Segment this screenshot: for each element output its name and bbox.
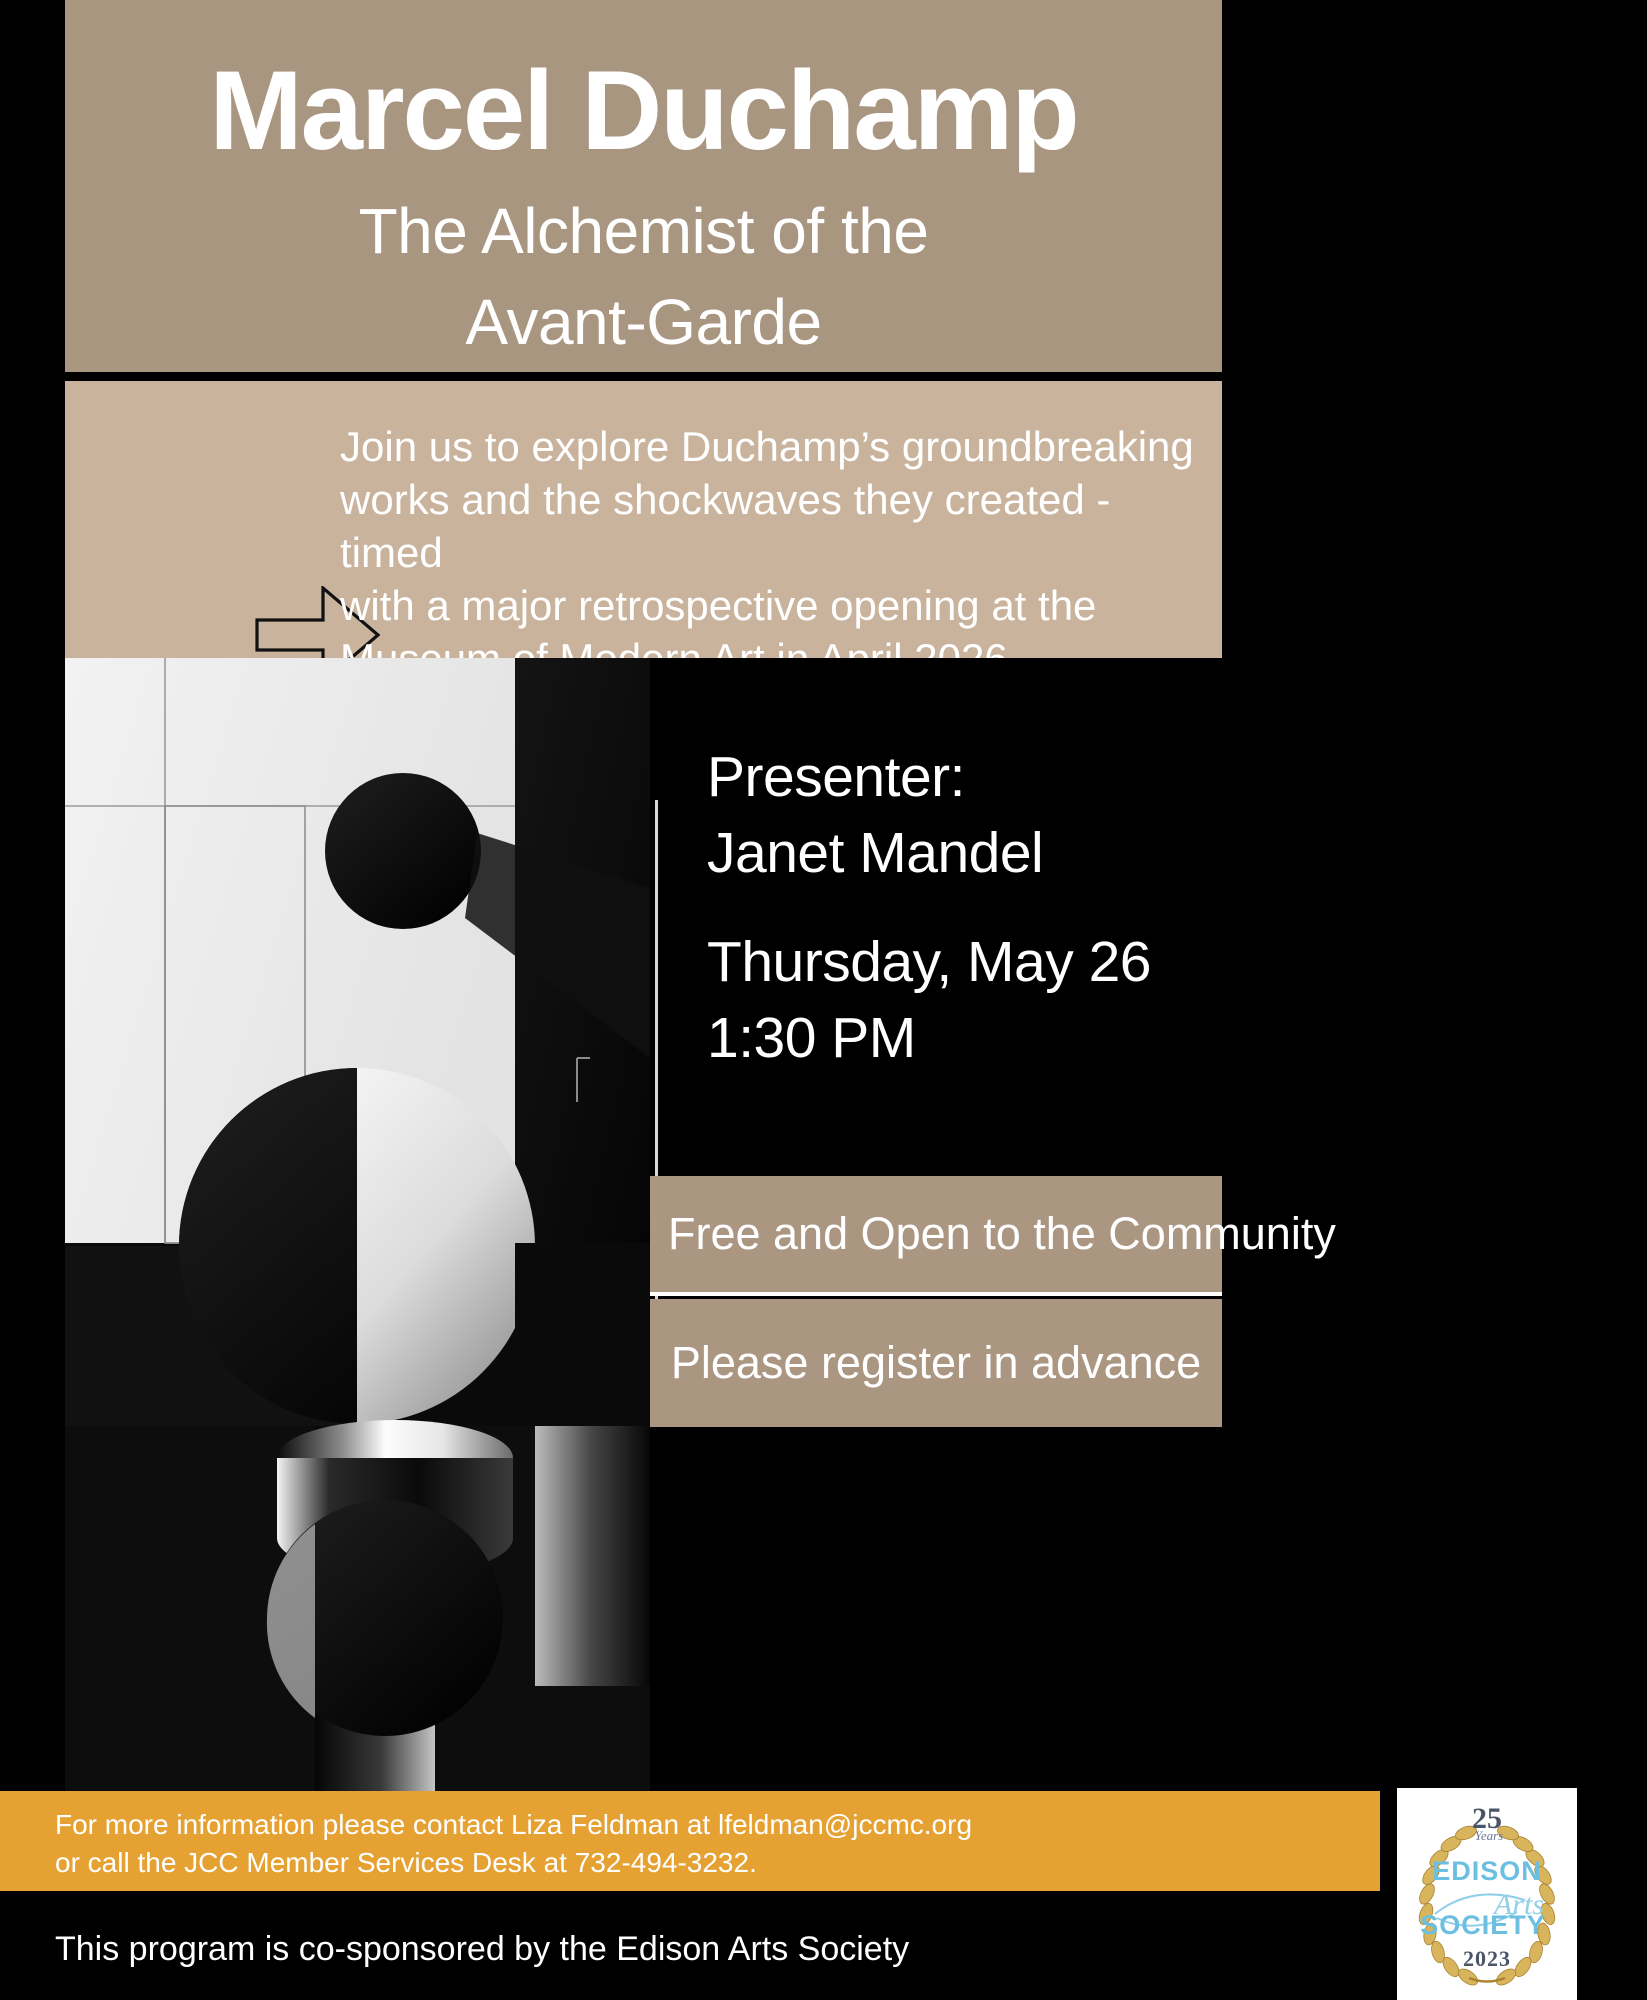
artwork-image [65, 658, 650, 1793]
presenter-block: Presenter: Janet Mandel [707, 740, 1227, 892]
description-line-3: with a major retrospective opening at th… [340, 580, 1220, 633]
poster-canvas: Marcel Duchamp The Alchemist of the Avan… [0, 0, 1647, 2000]
description-line-1: Join us to explore Duchamp’s groundbreak… [340, 421, 1220, 474]
info-box-free-open: Free and Open to the Community [650, 1176, 1222, 1292]
sponsor-text: This program is co-sponsored by the Edis… [55, 1930, 909, 1969]
logo-year: 2023 [1463, 1946, 1511, 1971]
contact-line-2: or call the JCC Member Services Desk at … [55, 1844, 1155, 1882]
logo-graphic: 25 Years EDISON Arts SOCIETY 2023 [1397, 1788, 1577, 2000]
info-box-register: Please register in advance [650, 1299, 1222, 1427]
presenter-name: Janet Mandel [707, 816, 1227, 892]
edison-arts-society-logo: 25 Years EDISON Arts SOCIETY 2023 [1397, 1788, 1577, 2000]
contact-text: For more information please contact Liza… [55, 1806, 1155, 1883]
event-time: 1:30 PM [707, 1001, 1227, 1077]
contact-line-1: For more information please contact Liza… [55, 1806, 1155, 1844]
description-band: Join us to explore Duchamp’s groundbreak… [65, 377, 1222, 662]
description-text: Join us to explore Duchamp’s groundbreak… [340, 421, 1220, 686]
page-subtitle: The Alchemist of the Avant-Garde [125, 186, 1162, 368]
description-line-2: works and the shockwaves they created - … [340, 474, 1220, 580]
logo-word-bottom: SOCIETY [1420, 1910, 1546, 1940]
presenter-label: Presenter: [707, 740, 1227, 816]
artwork-graphic [65, 658, 650, 1793]
info-box-register-label: Please register in advance [671, 1337, 1201, 1389]
subtitle-line-1: The Alchemist of the [125, 186, 1162, 277]
subtitle-line-2: Avant-Garde [125, 277, 1162, 368]
event-date: Thursday, May 26 [707, 925, 1227, 1001]
info-box-divider [650, 1292, 1222, 1296]
datetime-block: Thursday, May 26 1:30 PM [707, 925, 1227, 1077]
page-title: Marcel Duchamp [65, 52, 1222, 170]
details-panel [650, 658, 1222, 1173]
logo-years: Years [1475, 1828, 1503, 1843]
logo-word-top: EDISON [1432, 1856, 1542, 1886]
info-box-free-open-label: Free and Open to the Community [650, 1208, 1336, 1260]
header-band: Marcel Duchamp The Alchemist of the Avan… [65, 0, 1222, 372]
